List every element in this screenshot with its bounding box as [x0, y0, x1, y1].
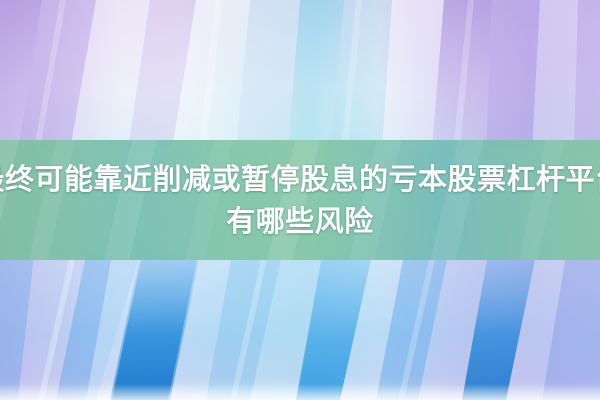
upper-shards [0, 0, 600, 150]
bottom-haze [0, 384, 600, 400]
headline-line-2: 有哪些风险 [226, 200, 374, 242]
headline-block: 最终可能靠近削减或暂停股息的亏本股票杠杆平台 有哪些风险 [0, 140, 600, 260]
headline-line-1: 最终可能靠近削减或暂停股息的亏本股票杠杆平台 [0, 158, 600, 200]
lower-shards [0, 255, 600, 400]
image-canvas: 最终可能靠近削减或暂停股息的亏本股票杠杆平台 有哪些风险 [0, 0, 600, 400]
